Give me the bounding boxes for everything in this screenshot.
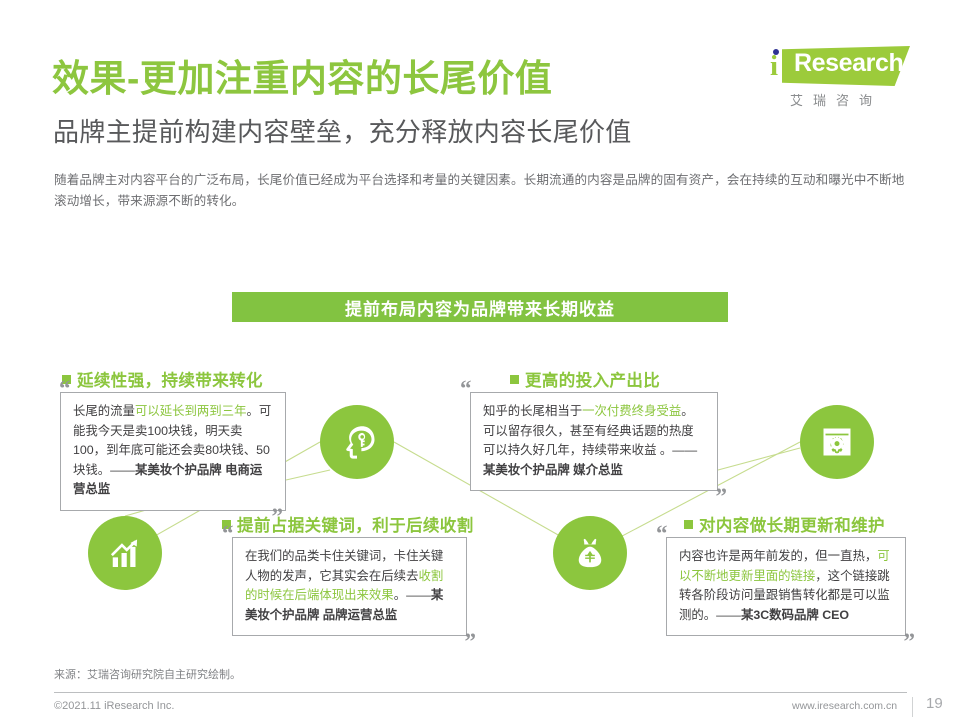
page-title: 效果-更加注重内容的长尾价值 xyxy=(52,48,552,102)
section-banner: 提前布局内容为品牌带来长期收益 xyxy=(232,292,728,322)
quote-4-source: 某3C数码品牌 CEO xyxy=(741,608,849,622)
quote-close-icon: ” xyxy=(904,630,916,653)
page-subtitle: 品牌主提前构建内容壁垒，充分释放内容长尾价值 xyxy=(53,112,632,149)
money-bag-yuan-icon xyxy=(553,516,627,590)
quote-3-part1: 在我们的品类卡住关键词，卡住关键人物的发声，它其实会在后续去 xyxy=(245,549,443,583)
bullet-square-icon xyxy=(510,375,519,384)
growth-chart-icon xyxy=(88,516,162,590)
section-heading-4: 对内容做长期更新和维护 xyxy=(684,512,885,536)
footer-divider xyxy=(54,692,907,693)
quote-2-part1: 知乎的长尾相当于 xyxy=(483,404,582,418)
section-heading-2: 更高的投入产出比 xyxy=(510,367,660,391)
section-heading-1: 延续性强，持续带来转化 xyxy=(62,367,263,391)
section-heading-4-label: 对内容做长期更新和维护 xyxy=(699,512,885,536)
footer-vertical-divider xyxy=(912,697,913,717)
quote-box-1: “ 长尾的流量可以延长到两到三年。可能我今天是卖100块钱，明天卖100，到年底… xyxy=(60,392,286,511)
source-note: 来源：艾瑞咨询研究院自主研究绘制。 xyxy=(54,666,241,682)
quote-1-part1: 长尾的流量 xyxy=(73,404,135,418)
quote-2-source: 某美妆个护品牌 媒介总监 xyxy=(483,463,623,477)
quote-4-part1: 内容也许是两年前发的，但一直热， xyxy=(679,549,877,563)
quote-text-4: 内容也许是两年前发的，但一直热，可以不断地更新里面的链接，这个链接跳转各阶段访问… xyxy=(679,547,894,625)
logo-mark: i Research xyxy=(756,44,916,90)
website-url: www.iresearch.com.cn xyxy=(792,700,897,712)
section-banner-label: 提前布局内容为品牌带来长期收益 xyxy=(345,295,615,320)
quote-open-icon: “ xyxy=(460,377,472,400)
iresearch-logo: i Research 艾瑞咨询 xyxy=(756,44,916,114)
head-with-key-icon xyxy=(320,405,394,479)
logo-chinese-name: 艾瑞咨询 xyxy=(790,90,882,109)
quote-text-2: 知乎的长尾相当于一次付费终身受益。可以留存很久，甚至有经典话题的热度可以持久好几… xyxy=(483,402,706,480)
section-heading-1-label: 延续性强，持续带来转化 xyxy=(77,367,263,391)
quote-close-icon: ” xyxy=(716,485,728,508)
quote-text-1: 长尾的流量可以延长到两到三年。可能我今天是卖100块钱，明天卖100，到年底可能… xyxy=(73,402,274,500)
quote-box-4: “ 内容也许是两年前发的，但一直热，可以不断地更新里面的链接，这个链接跳转各阶段… xyxy=(666,537,906,636)
quote-open-icon: “ xyxy=(656,522,668,545)
quote-box-3: “ 在我们的品类卡住关键词，卡住关键人物的发声，它其实会在后续去收割的时候在后端… xyxy=(232,537,467,636)
quote-close-icon: ” xyxy=(465,630,477,653)
copyright-text: ©2021.11 iResearch Inc. xyxy=(54,700,174,712)
quote-3-part2: 。—— xyxy=(394,588,431,602)
quote-open-icon: “ xyxy=(222,522,234,545)
logo-wordmark: Research xyxy=(794,51,903,76)
bullet-square-icon xyxy=(684,520,693,529)
slide-root: 效果-更加注重内容的长尾价值 品牌主提前构建内容壁垒，充分释放内容长尾价值 随着… xyxy=(0,0,960,720)
section-heading-2-label: 更高的投入产出比 xyxy=(525,367,660,391)
quote-2-highlight: 一次付费终身受益 xyxy=(582,404,681,418)
section-heading-3-label: 提前占据关键词，利于后续收割 xyxy=(237,512,474,536)
section-heading-3: 提前占据关键词，利于后续收割 xyxy=(222,512,474,536)
lead-paragraph: 随着品牌主对内容平台的广泛布局，长尾价值已经成为平台选择和考量的关键因素。长期流… xyxy=(54,170,916,212)
quote-1-highlight: 可以延长到两到三年 xyxy=(135,404,247,418)
quote-open-icon: “ xyxy=(59,377,71,400)
page-number: 19 xyxy=(926,695,943,712)
gear-in-box-icon xyxy=(800,405,874,479)
logo-letter-i: i xyxy=(770,52,778,81)
quote-box-2: “ 知乎的长尾相当于一次付费终身受益。可以留存很久，甚至有经典话题的热度可以持久… xyxy=(470,392,718,491)
quote-text-3: 在我们的品类卡住关键词，卡住关键人物的发声，它其实会在后续去收割的时候在后端体现… xyxy=(245,547,455,625)
